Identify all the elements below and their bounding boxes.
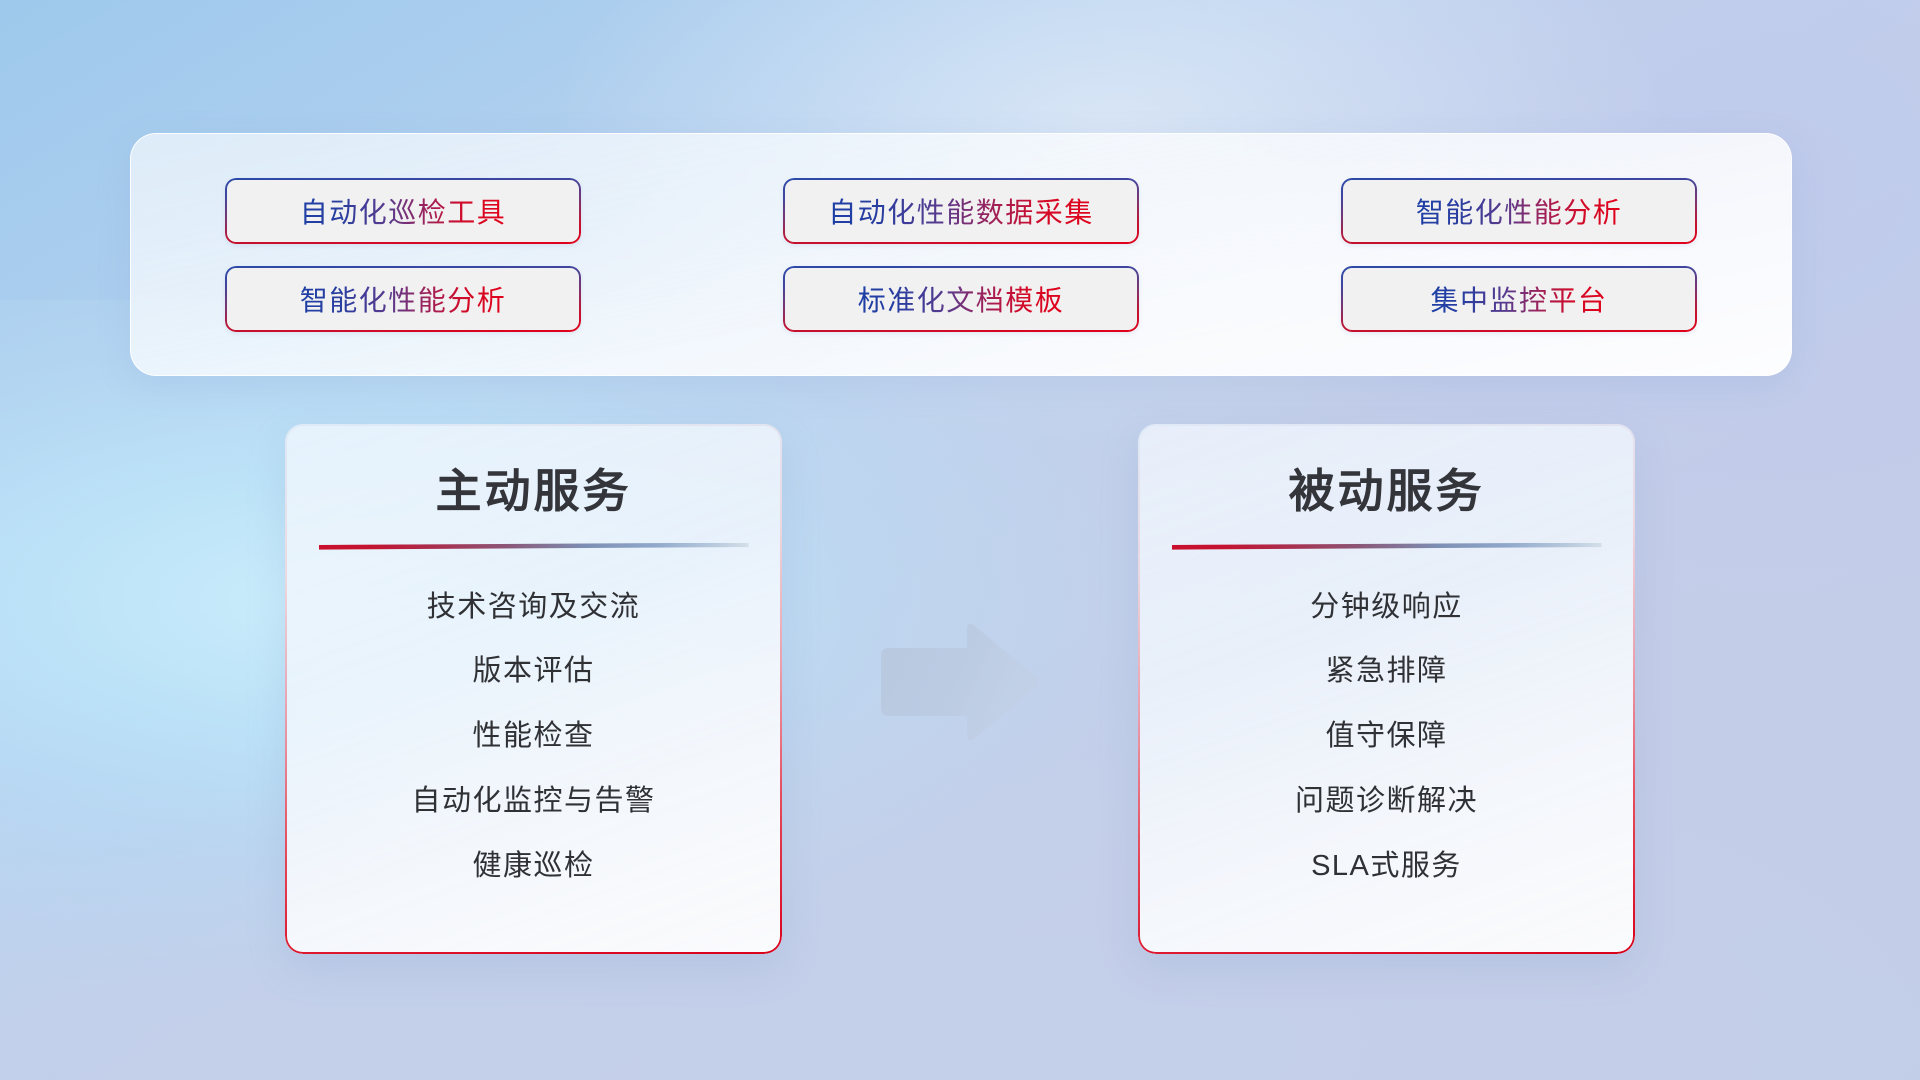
service-item: 值守保障 [1325,719,1447,754]
capability-chip-label: 标准化文档模板 [858,279,1065,319]
service-card-content: 主动服务 技术咨询及交流 版本评估 性能检查 自动化监控与告警 健康巡检 [285,424,782,954]
diagram-stage: 自动化巡检工具 自动化性能数据采集 智能化性能分析 智能化性能分析 标准化文档模… [0,0,1920,1080]
service-item: SLA式服务 [1311,849,1462,884]
capability-chip-automation-performance-data-collection[interactable]: 自动化性能数据采集 [783,178,1139,244]
capability-chip-intelligent-performance-analysis[interactable]: 智能化性能分析 [1341,178,1697,244]
capability-row-1: 自动化巡检工具 自动化性能数据采集 智能化性能分析 [225,178,1697,244]
service-card-item-list: 技术咨询及交流 版本评估 性能检查 自动化监控与告警 健康巡检 [325,590,742,884]
service-card-reactive[interactable]: 被动服务 分钟级响应 紧急排障 值守保障 问题诊断解决 SLA式服务 [1138,424,1635,954]
capability-chip-label: 智能化性能分析 [1416,191,1623,231]
capability-panel: 自动化巡检工具 自动化性能数据采集 智能化性能分析 智能化性能分析 标准化文档模… [130,133,1792,376]
service-card-title: 被动服务 [1289,466,1485,517]
service-item: 性能检查 [472,719,594,754]
service-card-title: 主动服务 [436,466,632,517]
capability-chip-automation-inspection-tool[interactable]: 自动化巡检工具 [225,178,581,244]
capability-chip-label: 自动化巡检工具 [300,191,507,231]
service-card-proactive[interactable]: 主动服务 技术咨询及交流 版本评估 性能检查 自动化监控与告警 健康巡检 [285,424,782,954]
capability-chip-label: 自动化性能数据采集 [828,191,1094,231]
service-item: 问题诊断解决 [1295,784,1478,819]
service-item: 技术咨询及交流 [427,590,641,625]
service-card-divider [1172,543,1602,550]
capability-chip-centralized-monitoring-platform[interactable]: 集中监控平台 [1341,266,1697,332]
service-card-content: 被动服务 分钟级响应 紧急排障 值守保障 问题诊断解决 SLA式服务 [1138,424,1635,954]
service-card-divider [319,543,749,550]
capability-chip-label: 智能化性能分析 [300,279,507,319]
capability-chip-intelligent-performance-analysis-2[interactable]: 智能化性能分析 [225,266,581,332]
capability-chip-standard-document-template[interactable]: 标准化文档模板 [783,266,1139,332]
right-arrow-icon [873,618,1041,746]
capability-row-2: 智能化性能分析 标准化文档模板 集中监控平台 [225,266,1697,332]
service-card-item-list: 分钟级响应 紧急排障 值守保障 问题诊断解决 SLA式服务 [1178,590,1595,884]
service-item: 健康巡检 [472,849,594,884]
capability-chip-label: 集中监控平台 [1430,279,1607,319]
service-item: 版本评估 [472,654,594,689]
service-item: 紧急排障 [1325,654,1447,689]
service-item: 自动化监控与告警 [411,784,655,819]
service-item: 分钟级响应 [1310,590,1463,625]
